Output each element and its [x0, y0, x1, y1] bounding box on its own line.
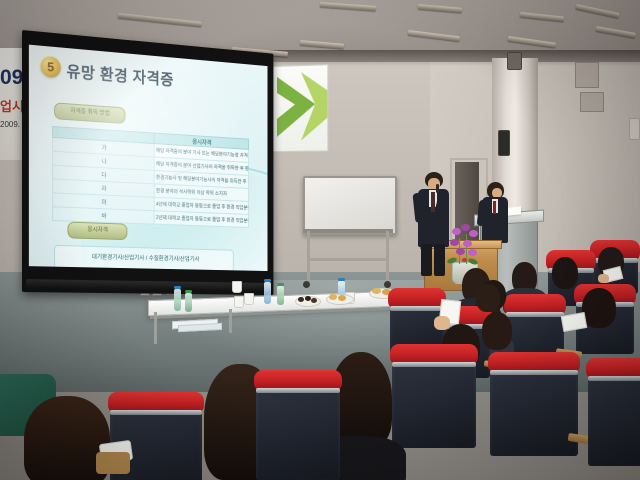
orchid-petal	[456, 248, 465, 255]
seat-trim	[392, 362, 476, 367]
seat-back	[588, 370, 640, 466]
microphone	[436, 184, 439, 193]
audience-hand	[434, 316, 450, 330]
whiteboard-caster	[303, 281, 310, 288]
slide-table: 응시자격 가 해당 자격증의 분야 기사 또는 해당분야기능장 자격을 취득한 …	[52, 126, 249, 228]
wall-speaker	[498, 130, 510, 156]
slide-canvas: 5 유망 환경 자격증 자격증 취득 방법 응시자격 가 해당 자격증의 분야 …	[29, 45, 268, 271]
seat-trim	[506, 312, 564, 317]
snack-item	[372, 288, 381, 294]
wall-panel	[580, 92, 604, 112]
orchid-petal	[452, 228, 461, 235]
wall-panel	[575, 62, 599, 88]
audience-hand	[598, 274, 609, 283]
orchid-petal	[463, 240, 472, 247]
whiteboard-crossbar	[307, 258, 389, 261]
auditorium-seat	[392, 356, 476, 448]
seat-trim	[588, 376, 640, 381]
seat-back	[490, 364, 578, 456]
audience-head	[552, 257, 578, 289]
slide-number-badge: 5	[41, 56, 61, 79]
front-table-leg	[229, 309, 232, 333]
projection-screen: 5 유망 환경 자격증 자격증 취득 방법 응시자격 가 해당 자격증의 분야 …	[22, 30, 273, 295]
orchid-petal	[468, 249, 477, 256]
personal-item	[96, 452, 130, 474]
front-table-leg	[154, 312, 157, 344]
chevron-logo-icon	[271, 69, 328, 147]
wall-speaker	[629, 118, 640, 140]
row-key: 바	[53, 207, 154, 224]
whiteboard-leg	[386, 231, 389, 283]
paper-cup	[234, 296, 244, 308]
snack-item	[298, 297, 304, 302]
left-poster-line1: 09	[0, 66, 23, 90]
orchid-petal	[450, 239, 459, 246]
seat-trim	[110, 410, 202, 415]
paper-cup	[232, 281, 242, 293]
row-text: 2년제 대학교 졸업자 동등으로 졸업 후 환경 직업분야 종사하여 3년 이상…	[154, 211, 249, 228]
left-poster-line2: 업시	[0, 96, 24, 115]
whiteboard-leg	[307, 231, 310, 283]
presenter-leg-left	[421, 244, 432, 276]
auditorium-seat	[256, 382, 340, 480]
audience-head	[582, 288, 616, 328]
audience-head	[482, 312, 512, 350]
snack-item	[338, 295, 346, 301]
whiteboard-tray	[303, 229, 393, 233]
whiteboard	[303, 176, 397, 235]
flower-accent	[462, 258, 467, 262]
seat-back	[392, 356, 476, 448]
water-bottle	[277, 286, 284, 305]
whiteboard-caster	[384, 281, 391, 288]
orchid-petal	[469, 230, 478, 237]
water-bottle	[264, 282, 271, 304]
slide-footnote: 대기환경기사/산업기사 / 수질환경기사/산업기사	[54, 245, 234, 271]
orchid-petal	[461, 224, 470, 231]
audience-head	[476, 284, 500, 312]
presenter-leg-right	[434, 244, 445, 276]
slide-title: 유망 환경 자격증	[67, 58, 174, 90]
auditorium-seat	[490, 364, 578, 456]
slide-button-top: 자격증 취득 방법	[54, 102, 125, 124]
seat-trim	[390, 306, 444, 311]
podium-person-tie	[493, 201, 496, 214]
wall-speaker	[507, 52, 522, 70]
snack-item	[311, 298, 317, 303]
slide-button-bottom: 응시자격	[67, 222, 127, 241]
water-bottle	[185, 293, 192, 312]
snack-item	[329, 294, 337, 300]
water-bottle	[174, 289, 181, 311]
lecture-hall-photo: 09 업시 2009. 11. 수회 전략토론 환경정책과 5 유망 환경 자격…	[0, 0, 640, 480]
auditorium-seat	[588, 370, 640, 466]
paper-cup	[244, 293, 254, 305]
seat-back	[256, 382, 340, 480]
seat-trim	[490, 370, 578, 375]
seat-trim	[256, 388, 340, 393]
